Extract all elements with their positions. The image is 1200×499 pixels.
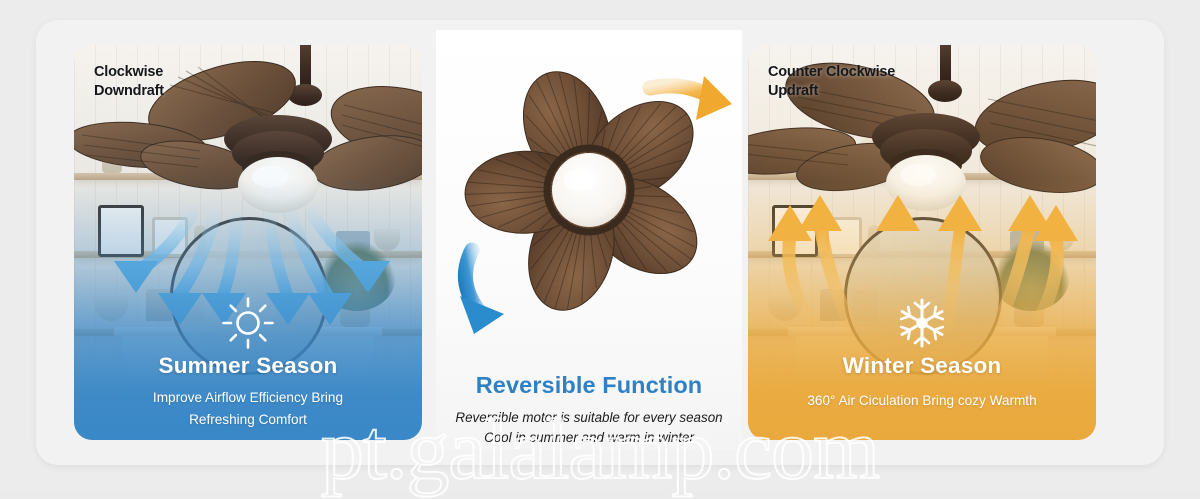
- page-background: Clockwise Downdraft S: [0, 0, 1200, 491]
- rotation-arrow-reverse: [460, 250, 504, 334]
- winter-color-wash: [748, 45, 1096, 440]
- panel-summer: Clockwise Downdraft S: [74, 45, 422, 440]
- infographic-card: Clockwise Downdraft S: [36, 20, 1164, 465]
- winter-subtitle: 360° Air Ciculation Bring cozy Warmth: [760, 390, 1084, 412]
- winter-title: Winter Season: [748, 353, 1096, 379]
- sun-icon: [222, 297, 274, 349]
- panel-winter: Counter Clockwise Updraft: [748, 45, 1096, 440]
- panel-reversible: Reversible Function Reversible motor is …: [436, 30, 742, 450]
- summer-title: Summer Season: [74, 353, 422, 379]
- reversible-function-title: Reversible Function: [436, 372, 742, 399]
- summer-subtitle: Improve Airflow Efficiency Bring Refresh…: [86, 387, 410, 431]
- label-counter-clockwise-updraft: Counter Clockwise Updraft: [768, 63, 895, 101]
- summer-color-wash: [74, 45, 422, 440]
- ceiling-fan-bottom-view: [444, 38, 734, 338]
- label-clockwise-downdraft: Clockwise Downdraft: [94, 63, 164, 101]
- reversible-function-subtitle: Reversible motor is suitable for every s…: [438, 408, 740, 449]
- snowflake-icon: [896, 297, 948, 349]
